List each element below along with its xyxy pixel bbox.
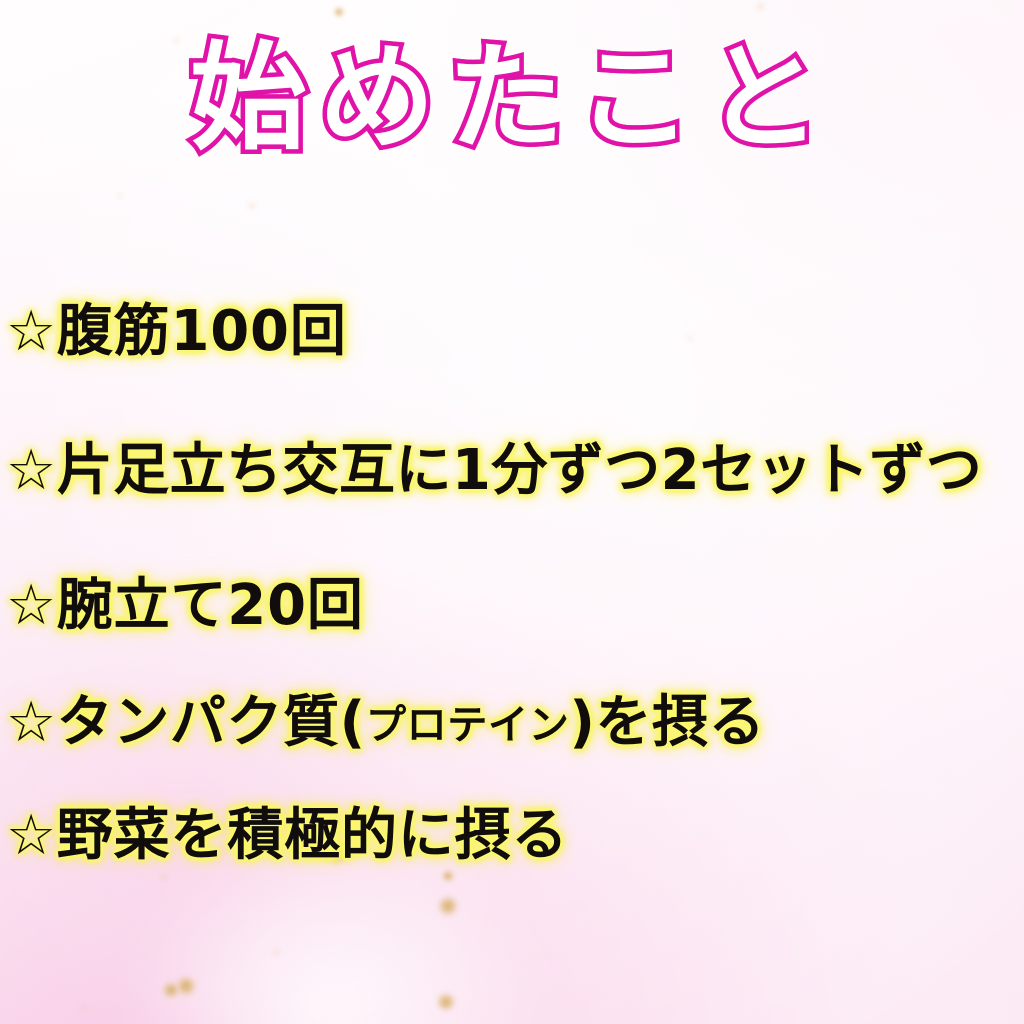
list-item-label: 腹筋100回	[57, 299, 347, 364]
star-icon: ☆	[6, 803, 57, 868]
star-icon: ☆	[6, 438, 57, 503]
star-icon: ☆	[6, 299, 57, 364]
list-item-label-after: )を摂る	[569, 690, 765, 755]
page-title: 始めたこと	[0, 34, 1024, 164]
list-item: ☆タンパク質(プロテイン)を摂る	[6, 677, 1018, 758]
star-icon: ☆	[6, 573, 57, 638]
list-item-label-before: タンパク質(	[57, 690, 366, 755]
list-item: ☆野菜を積極的に摂る	[6, 790, 1018, 871]
list-item-label: 片足立ち交互に1分ずつ2セットずつ	[57, 438, 983, 503]
list-item-label-annotation: プロテイン	[366, 702, 570, 749]
list-item: ☆腕立て20回	[6, 560, 1018, 641]
star-icon: ☆	[6, 690, 57, 755]
note-canvas: 始めたこと ☆腹筋100回 ☆片足立ち交互に1分ずつ2セットずつ ☆腕立て20回…	[0, 0, 1024, 1024]
list-item-label: 腕立て20回	[57, 573, 364, 638]
list-item-label: 野菜を積極的に摂る	[57, 803, 569, 868]
activity-list: ☆腹筋100回 ☆片足立ち交互に1分ずつ2セットずつ ☆腕立て20回 ☆タンパク…	[6, 286, 1018, 871]
list-item: ☆腹筋100回	[6, 286, 1018, 367]
page-title-text: 始めたこと	[190, 34, 834, 164]
list-item: ☆片足立ち交互に1分ずつ2セットずつ	[6, 425, 1018, 506]
